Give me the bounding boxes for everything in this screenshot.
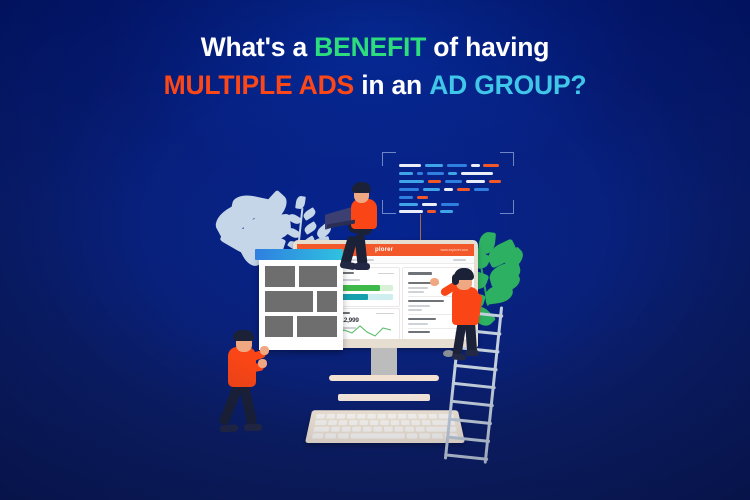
headline-text-of-having: of having: [426, 32, 549, 62]
headline-keyword-ad-group: AD GROUP?: [429, 70, 586, 100]
headline-keyword-multiple-ads: MULTIPLE ADS: [164, 70, 354, 100]
headline-keyword-benefit: BENEFIT: [314, 32, 426, 62]
banner-canvas: What's a BENEFIT of having MULTIPLE ADS …: [0, 0, 750, 500]
headline-line-2: MULTIPLE ADS in an AD GROUP?: [0, 70, 750, 101]
headline-line-1: What's a BENEFIT of having: [0, 32, 750, 63]
headline-text-in-an: in an: [354, 70, 429, 100]
headline: What's a BENEFIT of having MULTIPLE ADS …: [0, 32, 750, 102]
headline-text-whats-a: What's a: [201, 32, 314, 62]
